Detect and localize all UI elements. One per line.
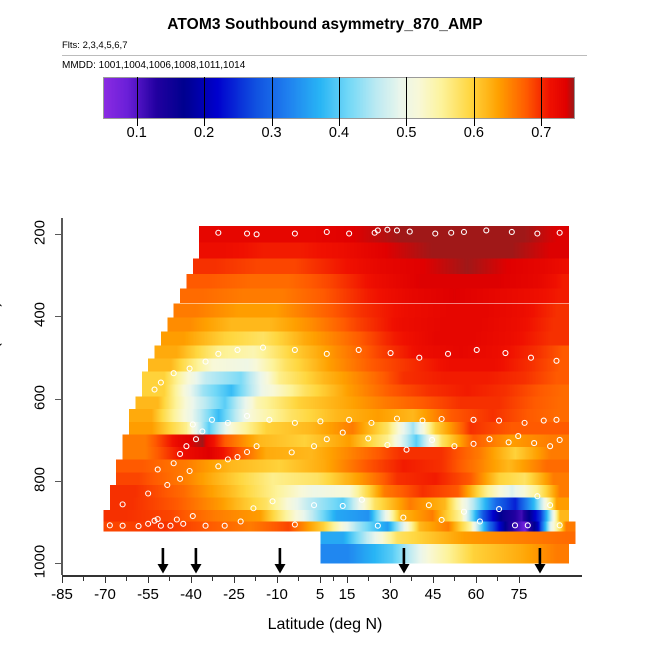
colorbar-tick-label: 0.7 [519,125,563,141]
x-axis-minor-tick [212,576,213,581]
x-axis-minor-tick [333,576,334,581]
colorbar-separator [406,77,407,119]
mmdd-label: MMDD: 1001,1004,1006,1008,1011,1014 [62,60,245,71]
colorbar-tick-label: 0.1 [115,125,159,141]
colorbar-tick-label: 0.6 [452,125,496,141]
y-axis-tick-label: 600 [32,368,49,428]
x-axis-tick [105,576,106,583]
colorbar-tick-label: 0.3 [250,125,294,141]
x-axis-tick [234,576,235,583]
x-axis-minor-tick [368,576,369,581]
header-divider [62,55,587,56]
page-title: ATOM3 Southbound asymmetry_870_AMP [0,16,650,34]
x-axis-minor-tick [411,576,412,581]
flight-latitude-arrow [190,548,202,574]
x-axis-minor-tick [126,576,127,581]
chart-root: ATOM3 Southbound asymmetry_870_AMP Flts:… [0,0,650,650]
x-axis-minor-tick [83,576,84,581]
x-axis-tick [62,576,63,583]
heatmap-plot [62,218,582,575]
y-axis-tick-label: 1000 [32,532,49,592]
colorbar-tick-label: 0.5 [384,125,428,141]
flight-latitude-arrow [274,548,286,574]
x-axis-tick [191,576,192,583]
y-axis-line [61,218,63,575]
colorbar-separator [204,77,205,119]
x-axis-minor-tick [497,576,498,581]
x-axis-tick [476,576,477,583]
x-axis-tick [519,576,520,583]
colorbar-tick-label: 0.4 [317,125,361,141]
flights-label: Flts: 2,3,4,5,6,7 [62,40,127,51]
colorbar-separator [272,77,273,119]
x-axis-minor-tick [298,576,299,581]
y-axis-tick-label: 200 [32,203,49,263]
colorbar-separator [474,77,475,119]
heatmap-canvas [62,218,582,575]
x-axis-tick [390,576,391,583]
x-axis-minor-tick [255,576,256,581]
x-axis-tick [320,576,321,583]
x-axis-tick-label: 75 [494,586,544,603]
colorbar: 0.10.20.30.40.50.60.7 [103,77,575,119]
colorbar-separator [339,77,340,119]
x-axis-tick [277,576,278,583]
colorbar-separator [137,77,138,119]
x-axis-tick [148,576,149,583]
flight-latitude-arrow [157,548,169,574]
flight-latitude-arrow [398,548,410,574]
x-axis-tick [347,576,348,583]
y-axis-tick-label: 800 [32,450,49,510]
flight-latitude-arrow [534,548,546,574]
colorbar-separator [541,77,542,119]
x-axis-title: Latitude (deg N) [0,616,650,634]
colorbar-tick-label: 0.2 [182,125,226,141]
x-axis-line [62,575,582,577]
y-axis-title: PSXC (mbar) [0,269,3,429]
x-axis-minor-tick [169,576,170,581]
x-axis-minor-tick [454,576,455,581]
x-axis-tick [433,576,434,583]
y-axis-tick-label: 400 [32,285,49,345]
